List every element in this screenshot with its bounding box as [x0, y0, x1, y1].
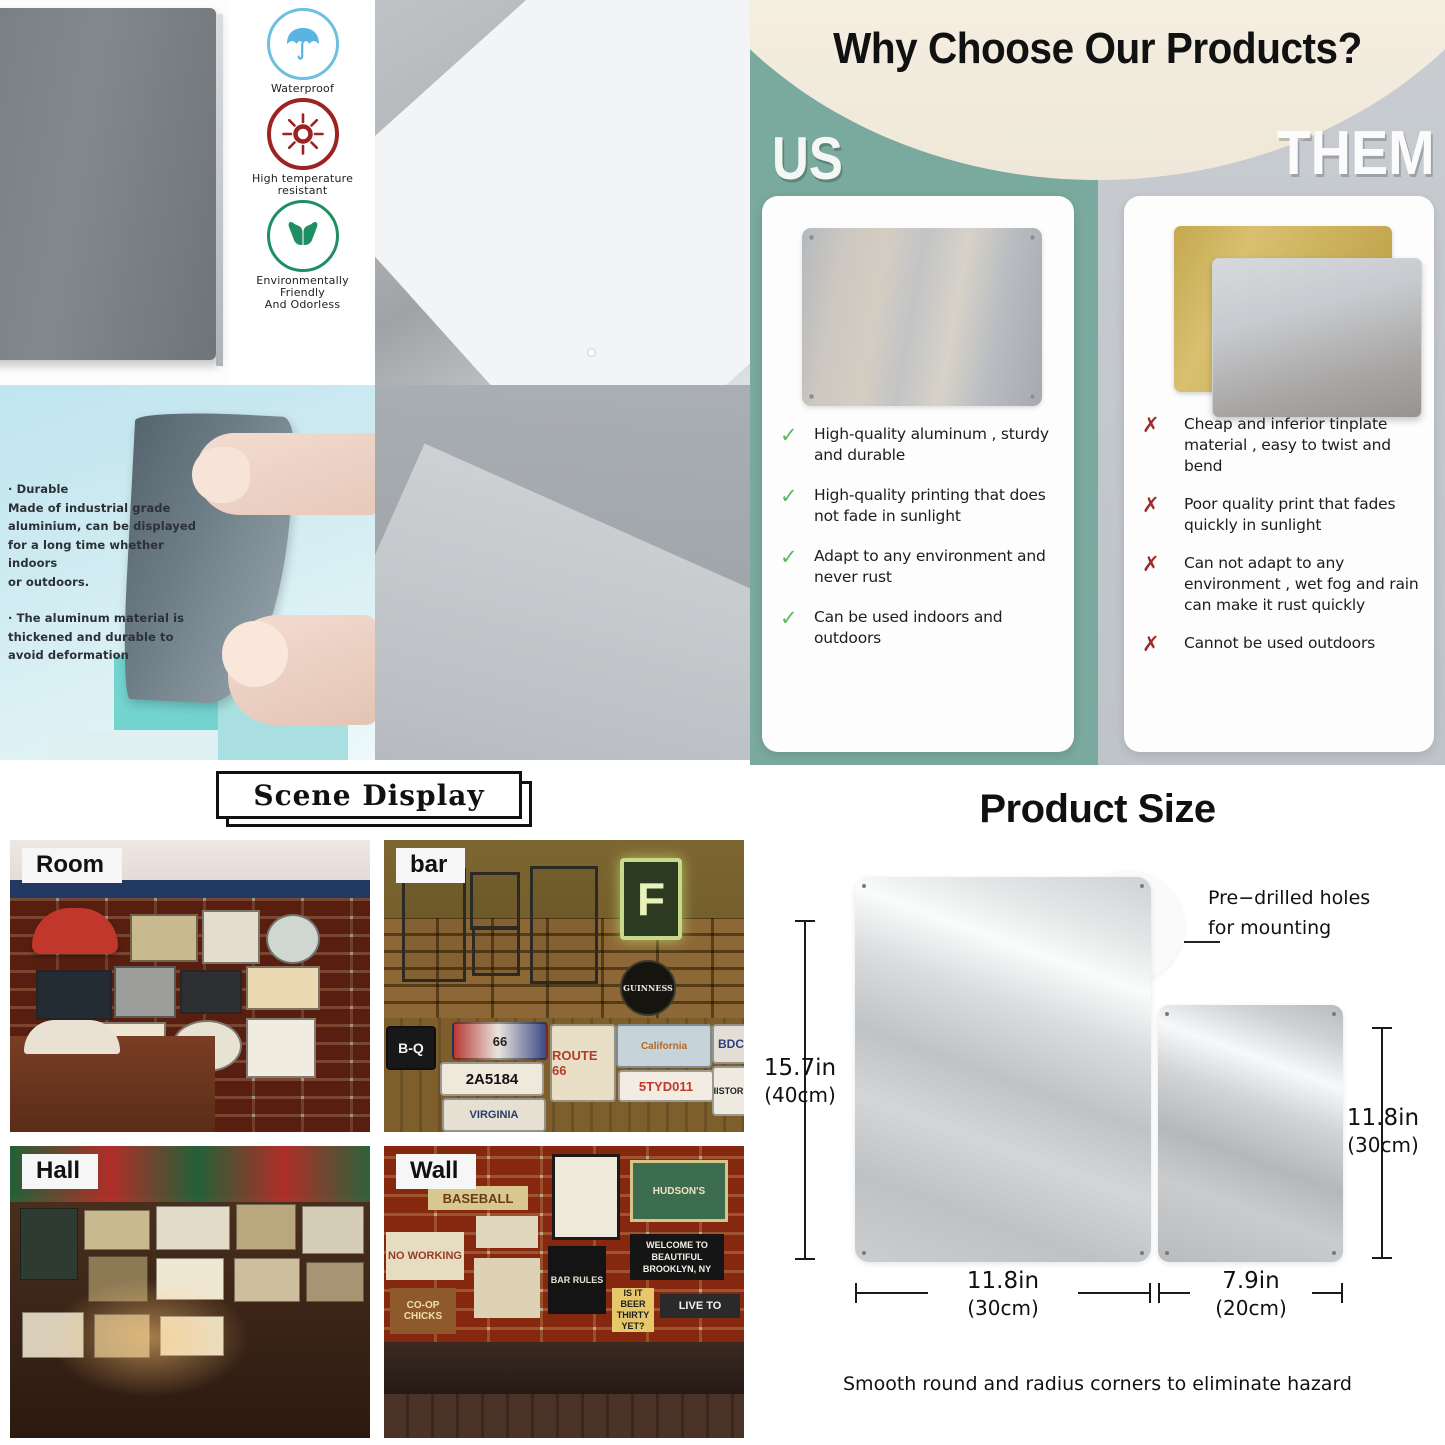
plate-hole-top-left [862, 884, 866, 888]
scene-bar: F GUINNESS B-Q 66 2A5184 ROUTE 66 Califo… [384, 840, 744, 1132]
durability-paragraph-1: · Durable Made of industrial grade alumi… [8, 480, 198, 591]
them-list-item-text: Cannot be used outdoors [1184, 633, 1375, 654]
platform-step-3 [48, 730, 218, 760]
bar-license-plate: California [616, 1024, 712, 1068]
bar-shelf [470, 872, 520, 930]
plate-hole-top-right [1030, 235, 1035, 240]
caring-hands-icon [267, 200, 339, 272]
wall-sign-beer-thirty: IS IT BEER THIRTY YET? [612, 1288, 654, 1332]
feature-heat-label: High temperature resistant [230, 173, 375, 197]
plate-hole-top-right [1140, 884, 1144, 888]
wall-sign-brooklyn: WELCOME TO BEAUTIFUL BROOKLYN, NY [630, 1234, 724, 1280]
hall-warm-lighting [50, 1278, 250, 1398]
us-list-item-text: Adapt to any environment and never rust [814, 546, 1062, 588]
small-width-label: 7.9in (20cm) [1190, 1268, 1312, 1322]
wall-sign-beer-poster [474, 1258, 540, 1318]
plate-hole-top-right [1332, 1012, 1336, 1016]
comparison-panel: Why Choose Our Products? US THEM ✓ High-… [750, 0, 1445, 765]
them-list-item-text: Poor quality print that fades quickly in… [1184, 494, 1422, 536]
cross-icon: ✗ [1142, 494, 1184, 516]
them-list-item: ✗ Poor quality print that fades quickly … [1142, 494, 1422, 536]
us-label: US [772, 124, 843, 193]
cross-icon: ✗ [1142, 633, 1184, 655]
bar-guinness-badge: GUINNESS [620, 960, 676, 1016]
them-list-item-text: Cheap and inferior tinplate material , e… [1184, 414, 1422, 477]
us-list-item: ✓ Adapt to any environment and never rus… [780, 546, 1062, 588]
large-sign-plate [855, 877, 1151, 1262]
bar-license-plate: BDC [712, 1024, 744, 1064]
scene-room: Room [10, 840, 370, 1132]
hall-poster [84, 1210, 150, 1250]
scene-display-header: Scene Display [216, 771, 526, 817]
durability-paragraph-2: · The aluminum material is thickened and… [8, 609, 198, 665]
scene-hall: Hall [10, 1146, 370, 1438]
room-sign [246, 1018, 316, 1078]
room-sign [246, 966, 320, 1010]
wall-sign-live-to: LIVE TO [660, 1294, 740, 1318]
feature-icon-column: Waterproof [230, 0, 375, 385]
them-list-item: ✗ Cannot be used outdoors [1142, 633, 1422, 655]
hand-top-grip [192, 447, 250, 503]
metal-sheet-corner [375, 0, 750, 385]
plate-hole-bottom-right [1332, 1251, 1336, 1255]
durability-panel: · Durable Made of industrial grade alumi… [0, 385, 375, 760]
scene-wall: BASEBALL NO WORKING CO-OP CHICKS BAR RUL… [384, 1146, 744, 1438]
aluminum-sheet-photo [0, 0, 230, 385]
durability-text-block: · Durable Made of industrial grade alumi… [8, 480, 198, 683]
scene-tag-room: Room [22, 848, 122, 883]
us-product-plate [802, 228, 1042, 406]
them-label: THEM [1277, 118, 1435, 189]
bar-shelf [530, 866, 598, 984]
bar-license-plate: HISTORIC [712, 1066, 744, 1116]
big-height-label: 15.7in (40cm) [750, 1055, 855, 1109]
size-caption: Smooth round and radius corners to elimi… [750, 1373, 1445, 1395]
wall-sign-framed-poster [552, 1154, 620, 1240]
plate-hole-bottom-right [1140, 1251, 1144, 1255]
bar-license-plate: 5TYD011 [618, 1070, 714, 1102]
cross-icon: ✗ [1142, 414, 1184, 436]
bar-shelf [472, 926, 520, 976]
hand-bottom-grip [222, 621, 288, 687]
wall-sign-no-working: NO WORKING [386, 1232, 464, 1280]
plate-hole-bottom-left [1165, 1251, 1169, 1255]
scene-tag-bar: bar [396, 848, 465, 883]
room-sign [202, 910, 260, 964]
hall-poster [302, 1206, 364, 1254]
feature-eco-friendly: Environmentally Friendly And Odorless [230, 200, 375, 311]
plate-hole-top-left [1165, 1012, 1169, 1016]
us-card: ✓ High-quality aluminum , sturdy and dur… [762, 196, 1074, 752]
small-height-label: 11.8in (30cm) [1328, 1105, 1438, 1159]
bar-license-plate: B-Q [386, 1026, 436, 1070]
plate-hole-bottom-left [809, 394, 814, 399]
them-list-item: ✗ Can not adapt to any environment , wet… [1142, 553, 1422, 616]
metal-sheet-diagonal [375, 385, 750, 760]
us-list-item: ✓ High-quality printing that does not fa… [780, 485, 1062, 527]
hall-poster [156, 1206, 230, 1250]
scene-display-title: Scene Display [253, 779, 484, 812]
us-list-item: ✓ Can be used indoors and outdoors [780, 607, 1062, 649]
wall-sign-poster [476, 1216, 538, 1248]
bar-license-plate: 2A5184 [440, 1062, 544, 1096]
plate-hole-top-left [809, 235, 814, 240]
us-benefit-list: ✓ High-quality aluminum , sturdy and dur… [780, 424, 1062, 668]
metal-surface-photo-1 [375, 0, 750, 385]
predrilled-holes-callout: Pre−drilled holes for mounting [1208, 883, 1438, 943]
us-list-item: ✓ High-quality aluminum , sturdy and dur… [780, 424, 1062, 466]
plate-hole-bottom-left [862, 1251, 866, 1255]
them-card: ✗ Cheap and inferior tinplate material ,… [1124, 196, 1434, 752]
feature-eco-label: Environmentally Friendly And Odorless [230, 275, 375, 311]
wall-bottle-shelf [384, 1342, 744, 1398]
scene-grid: Room F GUINNESS B-Q 66 2A5184 ROUTE 66 C… [10, 840, 746, 1438]
wall-sign-hudsons: HUDSON'S [630, 1160, 728, 1222]
room-sign [180, 970, 242, 1014]
bar-neon-letter: F [620, 858, 682, 940]
wall-sign-baseball: BASEBALL [428, 1186, 528, 1210]
hall-poster [306, 1262, 364, 1302]
them-drawback-list: ✗ Cheap and inferior tinplate material ,… [1142, 414, 1422, 672]
check-icon: ✓ [780, 485, 814, 507]
us-list-item-text: High-quality aluminum , sturdy and durab… [814, 424, 1062, 466]
check-icon: ✓ [780, 546, 814, 568]
room-sign [266, 914, 320, 964]
them-list-item-text: Can not adapt to any environment , wet f… [1184, 553, 1422, 616]
sun-icon [267, 98, 339, 170]
metal-surface-photo-2 [375, 385, 750, 760]
us-list-item-text: High-quality printing that does not fade… [814, 485, 1062, 527]
product-size-title: Product Size [750, 787, 1445, 832]
feature-heat-resistant: High temperature resistant [230, 98, 375, 197]
umbrella-icon [267, 8, 339, 80]
hall-poster [20, 1208, 78, 1280]
cross-icon: ✗ [1142, 553, 1184, 575]
hall-poster [236, 1204, 296, 1250]
bar-license-plate: 66 [452, 1022, 548, 1060]
feature-waterproof-label: Waterproof [230, 83, 375, 95]
room-desk-lamp [24, 1020, 120, 1054]
wall-sign-coop-chicks: CO-OP CHICKS [390, 1288, 456, 1334]
room-sign [36, 970, 112, 1020]
wall-sign-bar-rules: BAR RULES [548, 1246, 606, 1314]
bar-license-plate: VIRGINIA [442, 1098, 546, 1132]
top-left-panel: Waterproof [0, 0, 750, 385]
aluminum-plate-render [0, 8, 216, 360]
plate-hole-bottom-right [1030, 394, 1035, 399]
us-list-item-text: Can be used indoors and outdoors [814, 607, 1062, 649]
product-size-panel: Product Size Pre−drilled holes for mount… [750, 765, 1445, 1445]
wall-bar-counter [384, 1394, 744, 1438]
scene-tag-hall: Hall [22, 1154, 98, 1189]
product-infographic: Waterproof [0, 0, 1445, 1445]
scene-tag-wall: Wall [396, 1154, 476, 1189]
small-sign-plate [1158, 1005, 1343, 1262]
them-list-item: ✗ Cheap and inferior tinplate material ,… [1142, 414, 1422, 477]
competitor-silver-plate [1212, 258, 1422, 418]
feature-waterproof: Waterproof [230, 8, 375, 95]
check-icon: ✓ [780, 607, 814, 629]
bar-license-plate: ROUTE 66 [550, 1024, 616, 1102]
comparison-title: Why Choose Our Products? [778, 24, 1417, 74]
bar-shelf [402, 868, 466, 982]
scene-header-box: Scene Display [216, 771, 522, 819]
check-icon: ✓ [780, 424, 814, 446]
room-sign [114, 966, 176, 1018]
big-width-label: 11.8in (30cm) [928, 1268, 1078, 1322]
room-sign [130, 914, 198, 962]
